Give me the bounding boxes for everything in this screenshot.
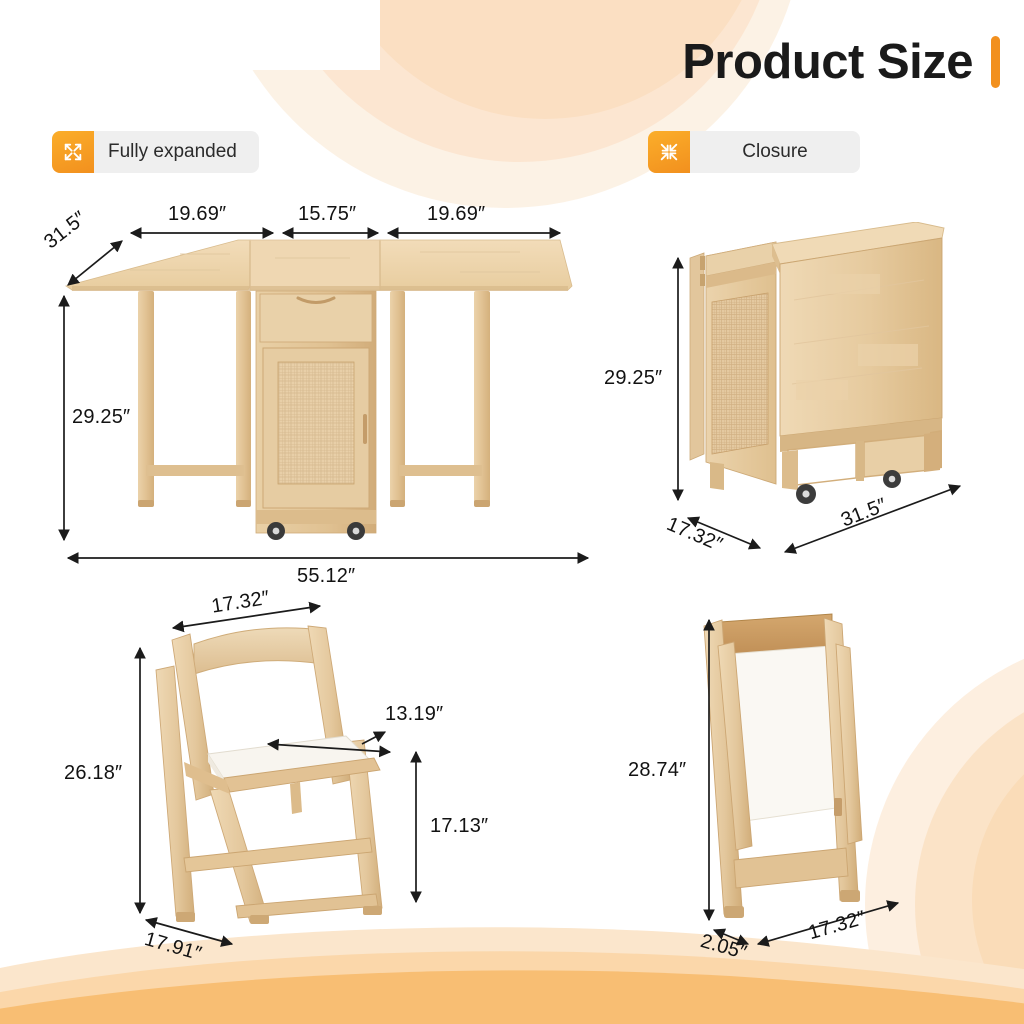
title-accent-bar: [991, 36, 1000, 88]
bg-arc-right-mid: [915, 680, 1024, 1024]
expand-arrows-icon: [52, 131, 94, 173]
cabinet-side-panel: [706, 242, 776, 484]
section-label-text: Closure: [690, 141, 860, 163]
cabinet-front-face: [780, 238, 942, 436]
dim-label-center: 15.75″: [298, 203, 356, 226]
dim-label-closed-height: 29.25″: [604, 367, 662, 390]
folded-stretcher: [734, 848, 848, 888]
header: Product Size: [682, 36, 1000, 88]
section-label-closure: Closure: [648, 131, 860, 173]
table-leg-right: [390, 291, 490, 507]
table-top: [66, 240, 572, 291]
dim-label-chair-seat-height: 17.13″: [430, 815, 488, 838]
table-expanded-illustration: [60, 228, 600, 548]
dim-label-folded-height: 28.74″: [628, 759, 686, 782]
page-title: Product Size: [682, 38, 973, 87]
table-leg-left: [138, 291, 251, 507]
section-label-fully-expanded: Fully expanded: [52, 131, 259, 173]
chair-open-illustration: [150, 612, 430, 930]
table-closed-illustration: [684, 222, 952, 522]
section-label-text: Fully expanded: [94, 141, 259, 163]
chair-folded-illustration: [690, 608, 890, 930]
bg-arc-right-inner: [972, 722, 1024, 1024]
bg-arc-top-outer: [205, 0, 805, 208]
dim-label-chair-seat-depth: 13.19″: [385, 703, 443, 726]
dim-label-chair-base-depth: 17.91″: [142, 928, 204, 966]
dim-label-folded-thickness: 2.05″: [698, 930, 750, 965]
table-center-cabinet: [256, 291, 376, 540]
bg-wave-mid: [0, 951, 1024, 1024]
dim-label-leaf-right: 19.69″: [427, 203, 485, 226]
dim-label-leaf-left: 19.69″: [168, 203, 226, 226]
product-size-infographic: Product Size Fully expanded: [0, 0, 1024, 1024]
dim-label-chair-height: 26.18″: [64, 762, 122, 785]
collapse-arrows-icon: [648, 131, 690, 173]
chair-stretcher-lower: [184, 838, 372, 872]
folded-left-leaf: [690, 253, 705, 460]
dim-label-table-height: 29.25″: [72, 406, 130, 429]
bg-wave-dark: [0, 970, 1024, 1024]
chair-backrest: [194, 628, 322, 674]
dim-label-total-width: 55.12″: [297, 565, 355, 588]
